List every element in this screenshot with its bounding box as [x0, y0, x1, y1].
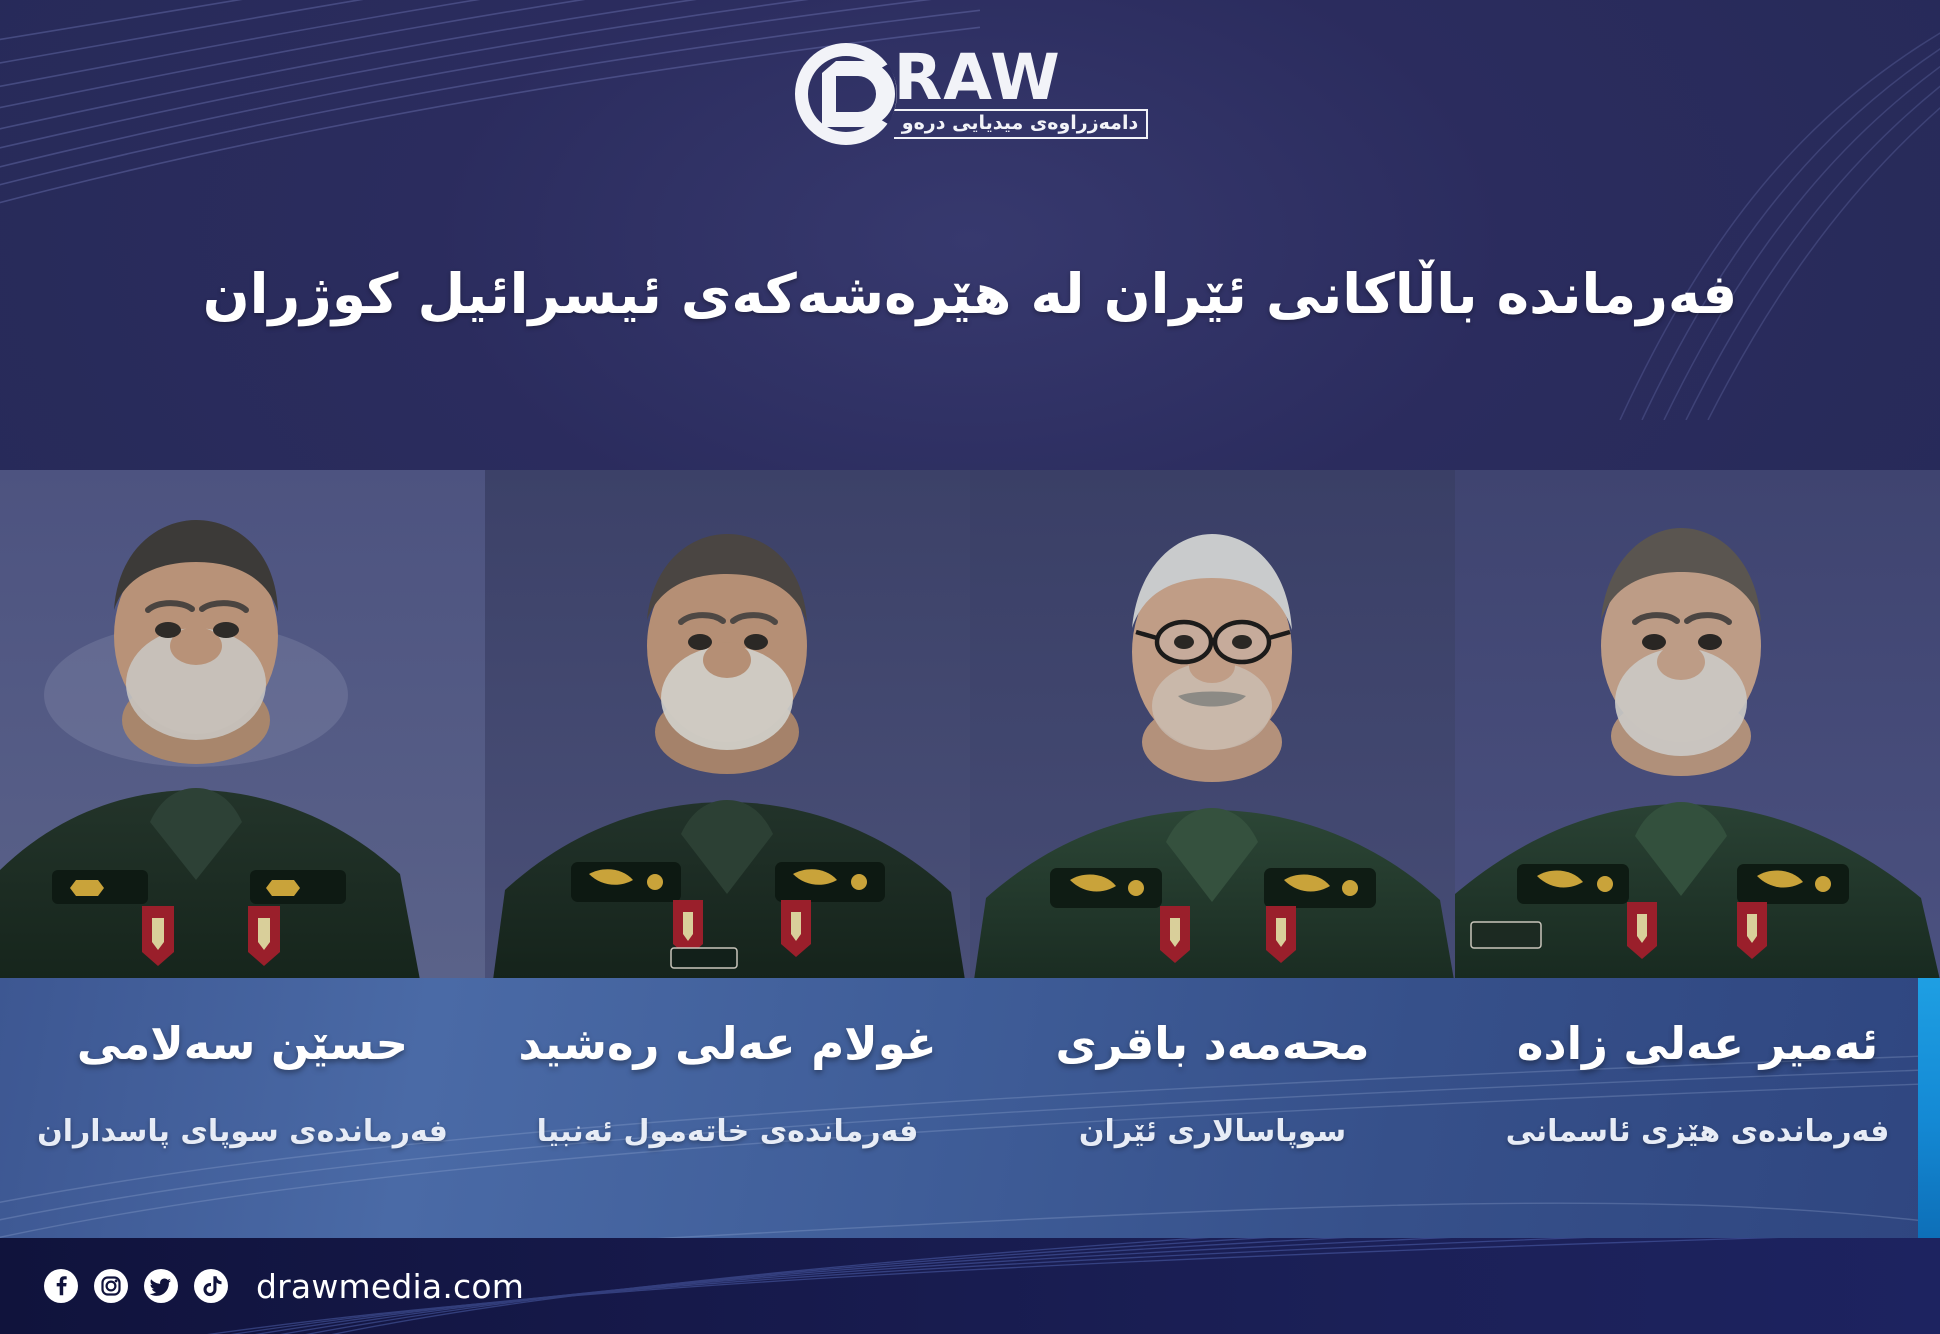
- brand-logo: RAW دامەزراوەی میدیایی درەو: [0, 34, 1940, 154]
- person-cell: غولام عەلی رەشید فەرماندەی خاتەمول ئەنبی…: [485, 978, 970, 1238]
- names-row: حسێن سەلامی فەرماندەی سوپای پاسداران غول…: [0, 978, 1940, 1238]
- portrait-hossein-salami: [0, 470, 485, 980]
- person-title: فەرماندەی سوپای پاسداران: [0, 1114, 485, 1149]
- headline-title: فەرماندە باڵاکانی ئێران لە هێرەشەکەی ئیس…: [60, 258, 1880, 331]
- logo-subtitle: دامەزراوەی میدیایی درەو: [894, 109, 1148, 139]
- person-cell: حسێن سەلامی فەرماندەی سوپای پاسداران: [0, 978, 485, 1238]
- person-cell: محەمەد باقری سوپاسالاری ئێران: [970, 978, 1455, 1238]
- twitter-icon[interactable]: [144, 1269, 178, 1303]
- logo-wordmark: RAW: [894, 49, 1061, 107]
- person-cell: ئەمیر عەلی زاده فەرماندەی هێزی ئاسمانی: [1455, 978, 1940, 1238]
- portrait-gholam-ali-rashid: [485, 470, 970, 980]
- person-name: حسێن سەلامی: [0, 1018, 485, 1070]
- footer-bar: drawmedia.com: [0, 1238, 1940, 1334]
- person-title: فەرماندەی خاتەمول ئەنبیا: [485, 1114, 970, 1149]
- portrait-mohammad-bagheri: [970, 470, 1455, 980]
- facebook-icon[interactable]: [44, 1269, 78, 1303]
- person-name: ئەمیر عەلی زاده: [1455, 1018, 1940, 1070]
- portrait-amir-ali-zadeh: [1455, 470, 1940, 980]
- person-title: سوپاسالاری ئێران: [970, 1114, 1455, 1149]
- person-name: محەمەد باقری: [970, 1018, 1455, 1070]
- person-name: غولام عەلی رەشید: [485, 1018, 970, 1070]
- draw-logo-mark-icon: [792, 40, 900, 148]
- portrait-strip: [0, 470, 1940, 980]
- poster-canvas: RAW دامەزراوەی میدیایی درەو فەرماندە باڵ…: [0, 0, 1940, 1334]
- instagram-icon[interactable]: [94, 1269, 128, 1303]
- person-title: فەرماندەی هێزی ئاسمانی: [1455, 1114, 1940, 1149]
- tiktok-icon[interactable]: [194, 1269, 228, 1303]
- names-band: حسێن سەلامی فەرماندەی سوپای پاسداران غول…: [0, 978, 1940, 1238]
- website-url[interactable]: drawmedia.com: [256, 1267, 524, 1306]
